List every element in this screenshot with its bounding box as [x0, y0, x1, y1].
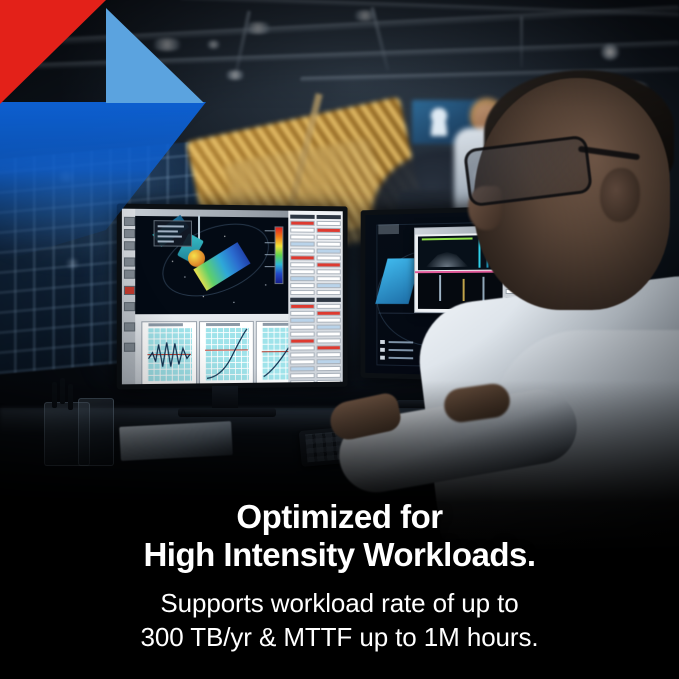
marketing-text-block: Optimized for High Intensity Workloads. … — [0, 498, 679, 655]
pen — [60, 378, 65, 404]
subheading-line-2: 300 TB/yr & MTTF up to 1M hours. — [0, 621, 679, 655]
ceiling-lamp — [150, 38, 184, 51]
headline-line-2: High Intensity Workloads. — [0, 536, 679, 575]
ceiling-lamp — [352, 10, 378, 21]
engineer-ear — [600, 168, 640, 222]
subheading: Supports workload rate of up to 300 TB/y… — [0, 587, 679, 655]
pen — [68, 384, 73, 410]
ceiling-lamp — [206, 40, 221, 49]
headline-line-1: Optimized for — [0, 498, 679, 537]
subheading-line-1: Supports workload rate of up to — [0, 587, 679, 621]
desk-pen-holder-secondary — [78, 398, 114, 466]
desk-notepad — [119, 421, 233, 461]
monitor-bezel — [117, 204, 348, 390]
avatar — [430, 108, 448, 136]
monitor-base — [178, 408, 276, 417]
pen — [52, 382, 57, 408]
headline: Optimized for High Intensity Workloads. — [0, 498, 679, 576]
promo-banner: Optimized for High Intensity Workloads. … — [0, 0, 679, 679]
ceiling-lamp — [243, 22, 273, 34]
ceiling-lamp — [600, 44, 620, 60]
left-monitor[interactable] — [117, 204, 348, 390]
ceiling-lamp — [224, 70, 246, 80]
